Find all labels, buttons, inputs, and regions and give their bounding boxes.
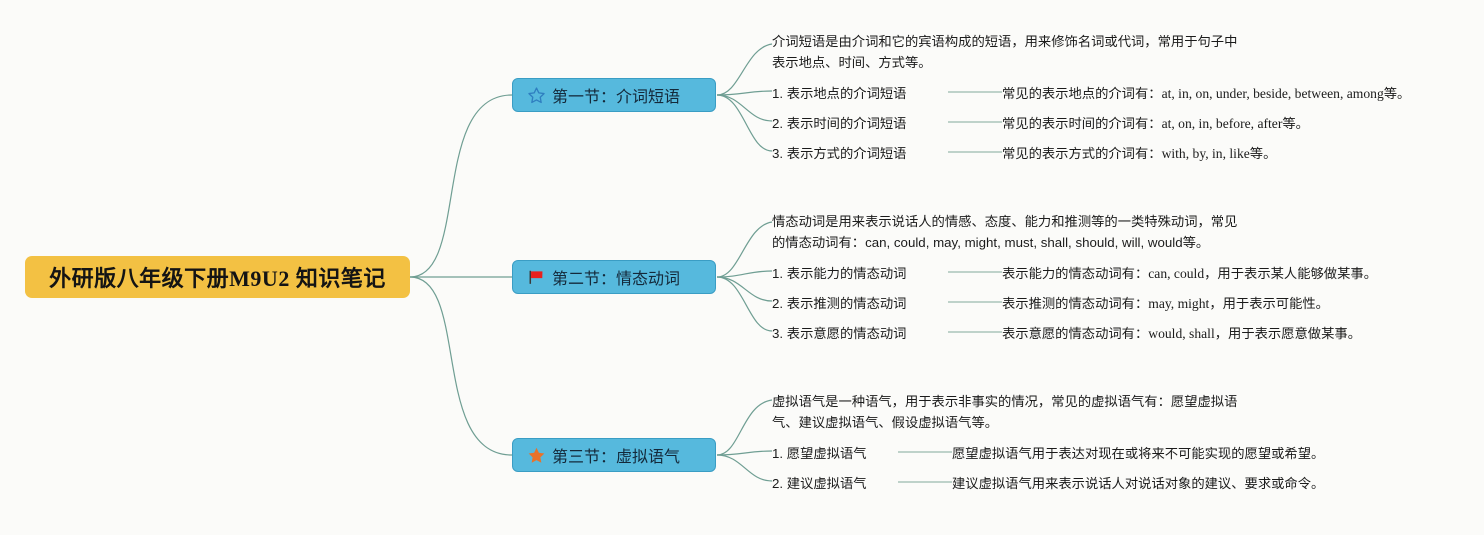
sub-detail-s1-3-suffix: 等。 <box>1250 146 1277 161</box>
mindmap-canvas: 外研版八年级下册M9U2 知识笔记 第一节：介词短语 第二节：情态动词 第三节：… <box>0 0 1484 535</box>
wire-root-to-section-1 <box>410 95 512 277</box>
sub-item-s2-1[interactable]: 1. 表示能力的情态动词 <box>772 263 906 282</box>
wire-s3-desc <box>717 400 772 455</box>
sub-detail-s1-2: 常见的表示时间的介词有：at, on, in, before, after等。 <box>1002 113 1309 132</box>
wire-s2-desc <box>717 222 772 277</box>
branch-label-section-3: 第三节：虚拟语气 <box>552 443 680 467</box>
wire-s3-item-1 <box>717 451 772 455</box>
branch-label-section-1: 第一节：介词短语 <box>552 83 680 107</box>
sub-detail-s2-3-en: would, shall <box>1148 326 1214 341</box>
sub-detail-s2-3: 表示意愿的情态动词有：would, shall，用于表示愿意做某事。 <box>1002 323 1361 342</box>
wire-s3-item-2 <box>717 455 772 481</box>
sub-item-s3-1[interactable]: 1. 愿望虚拟语气 <box>772 443 867 462</box>
wire-s1-desc <box>717 44 772 95</box>
sub-detail-s2-1: 表示能力的情态动词有：can, could，用于表示某人能够做某事。 <box>1002 263 1377 282</box>
red-flag-icon <box>525 266 547 288</box>
sub-detail-s2-3-prefix: 表示意愿的情态动词有： <box>1002 326 1148 341</box>
sub-detail-s2-2-en: may, might <box>1148 296 1209 311</box>
sub-item-s2-2[interactable]: 2. 表示推测的情态动词 <box>772 293 906 312</box>
wire-s2-item-2 <box>717 277 772 301</box>
branch-node-section-2[interactable]: 第二节：情态动词 <box>512 260 716 294</box>
sub-item-s1-2[interactable]: 2. 表示时间的介词短语 <box>772 113 906 132</box>
sub-detail-s2-2-suffix: ，用于表示可能性。 <box>1209 296 1329 311</box>
sub-detail-s1-2-en: at, on, in, before, after <box>1162 116 1283 131</box>
branch-node-section-3[interactable]: 第三节：虚拟语气 <box>512 438 716 472</box>
sub-detail-s2-2: 表示推测的情态动词有：may, might，用于表示可能性。 <box>1002 293 1329 312</box>
sub-detail-s1-1-suffix: 等。 <box>1384 86 1411 101</box>
sub-item-s1-3[interactable]: 3. 表示方式的介词短语 <box>772 143 906 162</box>
sub-detail-s1-1: 常见的表示地点的介词有：at, in, on, under, beside, b… <box>1002 83 1410 102</box>
sub-detail-s2-1-en: can, could <box>1148 266 1204 281</box>
sub-detail-s2-3-suffix: ，用于表示愿意做某事。 <box>1215 326 1361 341</box>
wire-s1-item-2 <box>717 95 772 121</box>
description-section-2: 情态动词是用来表示说话人的情感、态度、能力和推测等的一类特殊动词，常见 的情态动… <box>772 211 1472 253</box>
root-node-label: 外研版八年级下册M9U2 知识笔记 <box>49 261 386 293</box>
description-section-3: 虚拟语气是一种语气，用于表示非事实的情况，常见的虚拟语气有：愿望虚拟语 气、建议… <box>772 391 1472 433</box>
star-filled-icon <box>525 444 547 466</box>
wire-s2-item-1 <box>717 271 772 277</box>
description-section-1: 介词短语是由介词和它的宾语构成的短语，用来修饰名词或代词，常用于句子中 表示地点… <box>772 31 1462 73</box>
sub-detail-s1-3: 常见的表示方式的介词有：with, by, in, like等。 <box>1002 143 1276 162</box>
branch-label-section-2: 第二节：情态动词 <box>552 265 680 289</box>
sub-detail-s2-1-suffix: ，用于表示某人能够做某事。 <box>1204 266 1377 281</box>
wire-s2-item-3 <box>717 277 772 331</box>
sub-detail-s2-1-prefix: 表示能力的情态动词有： <box>1002 266 1148 281</box>
sub-item-s1-1[interactable]: 1. 表示地点的介词短语 <box>772 83 906 102</box>
star-outline-icon <box>525 84 547 106</box>
sub-detail-s1-3-prefix: 常见的表示方式的介词有： <box>1002 146 1162 161</box>
sub-detail-s3-2: 建议虚拟语气用来表示说话人对说话对象的建议、要求或命令。 <box>952 473 1324 492</box>
sub-detail-s3-1: 愿望虚拟语气用于表达对现在或将来不可能实现的愿望或希望。 <box>952 443 1324 462</box>
sub-detail-s1-1-en: at, in, on, under, beside, between, amon… <box>1162 86 1384 101</box>
sub-detail-s1-1-prefix: 常见的表示地点的介词有： <box>1002 86 1162 101</box>
sub-detail-s2-2-prefix: 表示推测的情态动词有： <box>1002 296 1148 311</box>
root-node[interactable]: 外研版八年级下册M9U2 知识笔记 <box>25 256 410 298</box>
branch-node-section-1[interactable]: 第一节：介词短语 <box>512 78 716 112</box>
sub-detail-s1-2-suffix: 等。 <box>1282 116 1309 131</box>
wire-s1-item-1 <box>717 91 772 95</box>
sub-detail-s1-3-en: with, by, in, like <box>1162 146 1250 161</box>
wire-s1-item-3 <box>717 95 772 151</box>
sub-item-s3-2[interactable]: 2. 建议虚拟语气 <box>772 473 867 492</box>
sub-detail-s1-2-prefix: 常见的表示时间的介词有： <box>1002 116 1162 131</box>
sub-item-s2-3[interactable]: 3. 表示意愿的情态动词 <box>772 323 906 342</box>
wire-root-to-section-3 <box>410 277 512 455</box>
